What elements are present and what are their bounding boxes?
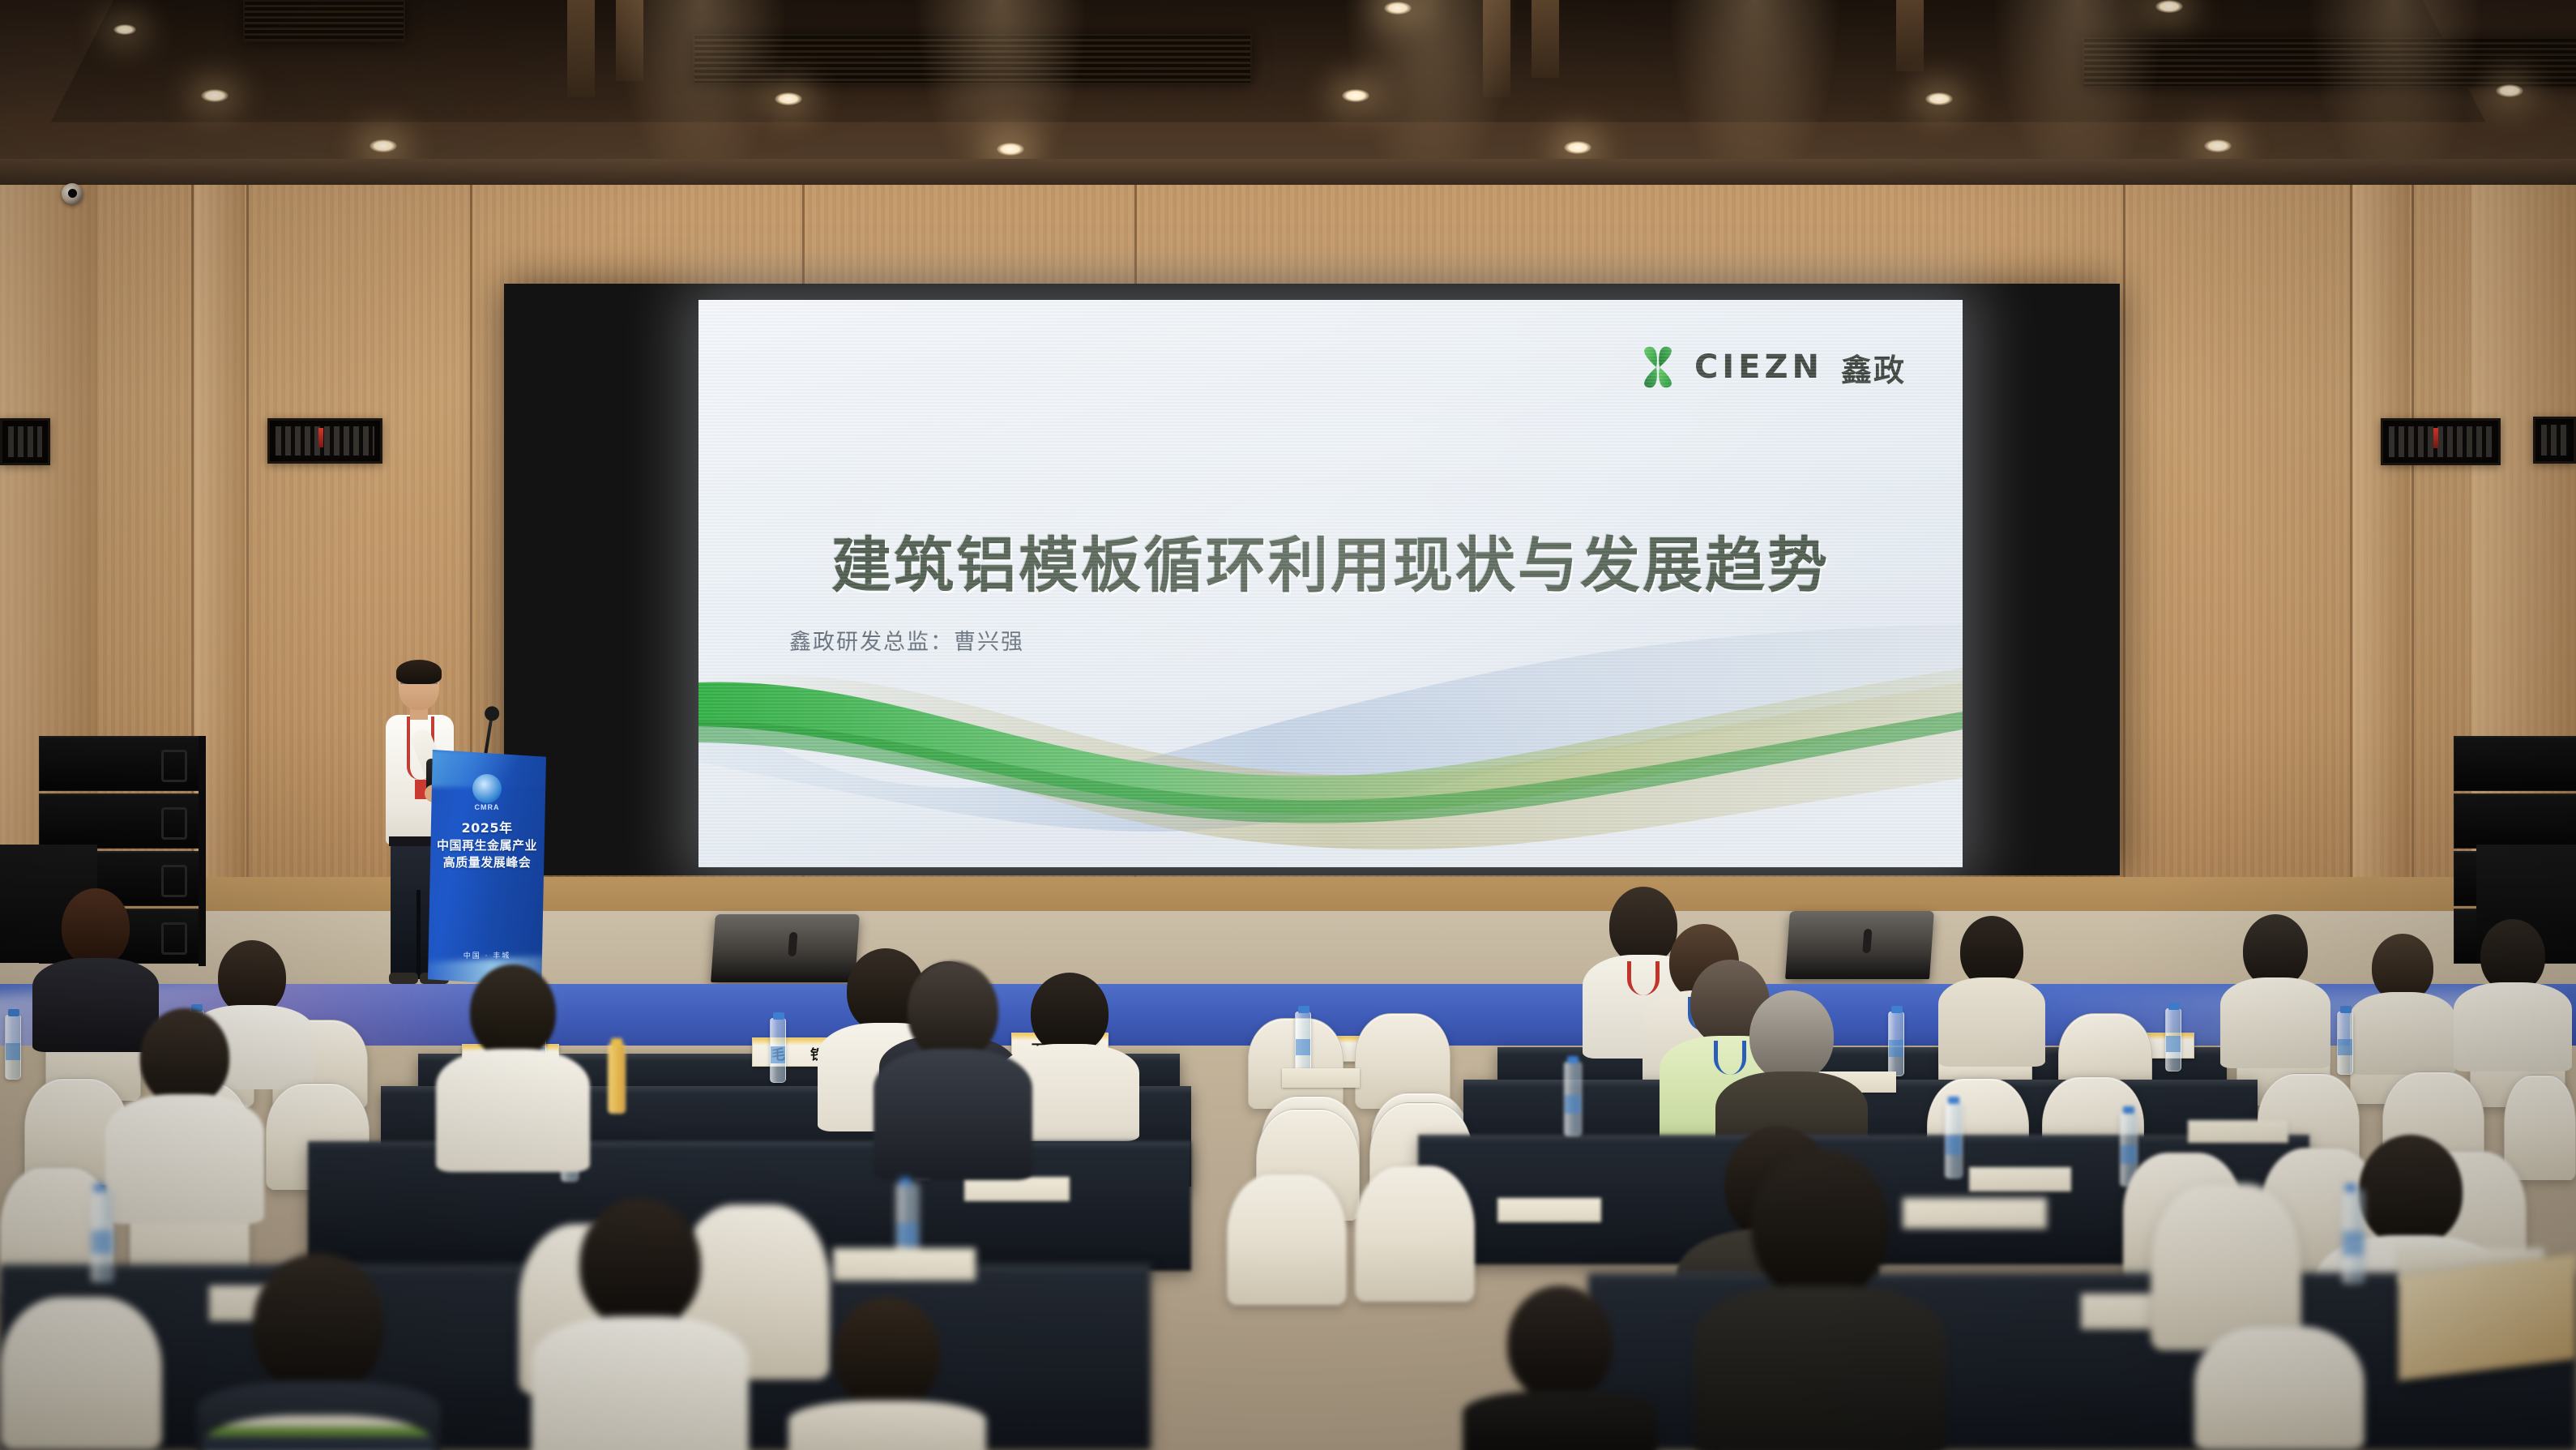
water-bottle — [1295, 1012, 1311, 1075]
ceiling-downlight — [2155, 0, 2183, 13]
ceiling-downlight — [775, 92, 802, 105]
handout-document — [2188, 1120, 2288, 1143]
attendee — [203, 1253, 434, 1450]
attendee — [2350, 934, 2455, 1067]
handout-document — [1969, 1167, 2071, 1191]
slide-title: 建筑铝模板循环利用现状与发展趋势 — [698, 517, 1963, 604]
ceiling-downlight — [113, 24, 136, 35]
chair — [1227, 1174, 1347, 1305]
attendee — [1938, 916, 2045, 1062]
ceiling-downlight — [370, 139, 397, 152]
ciezn-logo: CIEZN 鑫政 — [1634, 344, 1906, 391]
attendee — [1467, 1285, 1653, 1450]
ceiling-downlight — [1384, 2, 1412, 15]
attendee — [438, 965, 588, 1167]
chair — [0, 1297, 162, 1450]
ceiling — [0, 0, 2576, 188]
water-bottle — [2342, 1190, 2365, 1284]
ceiling-downlight — [201, 89, 229, 102]
logo-wordmark: CIEZN — [1694, 349, 1823, 386]
lectern-line-2: 中国再生金属产业 — [428, 837, 546, 854]
ceiling-vent-grille — [2083, 37, 2576, 88]
lectern-sign-text: 2025年 中国再生金属产业 高质量发展峰会 — [428, 819, 546, 870]
ceiling-downlight — [2496, 84, 2523, 97]
lectern-line-3: 高质量发展峰会 — [428, 854, 546, 871]
water-bottle — [1888, 1012, 1904, 1076]
handout-document — [1497, 1198, 1601, 1222]
cmra-circular-logo-icon — [472, 774, 502, 803]
water-bottle — [2165, 1008, 2181, 1071]
water-bottle — [1945, 1102, 1963, 1178]
wall-decor-panel — [2381, 418, 2501, 465]
attendee — [535, 1198, 745, 1450]
slide-subtitle: 鑫政研发总监：曹兴强 — [789, 624, 1024, 656]
lectern-line-1: 2025年 — [428, 819, 546, 837]
logo-wordmark-cn: 鑫政 — [1841, 345, 1906, 390]
ciezn-butterfly-logo-icon — [1634, 344, 1681, 391]
chair — [1355, 1166, 1475, 1302]
ceiling-downlight — [1342, 89, 1369, 102]
handout-document — [964, 1177, 1070, 1201]
attendee — [794, 1297, 980, 1450]
attendee — [107, 1008, 263, 1219]
attendee — [2220, 914, 2330, 1063]
presentation-screen[interactable]: CIEZN 鑫政 建筑铝模板循环利用现状与发展趋势 鑫政研发总监：曹兴强 — [698, 300, 1963, 867]
water-bottle — [91, 1190, 113, 1282]
attendee — [875, 961, 1031, 1174]
wall-decor-panel — [2533, 417, 2576, 464]
ceiling-vent-grille — [243, 0, 405, 42]
handout-document — [833, 1248, 976, 1281]
security-camera — [62, 183, 83, 204]
ceiling-downlight — [997, 143, 1024, 156]
chair — [2504, 1075, 2576, 1180]
wall-decor-panel — [0, 418, 50, 465]
lectern: CMRA 2025年 中国再生金属产业 高质量发展峰会 中国 · 丰城 — [428, 750, 546, 986]
handout-document — [1282, 1068, 1360, 1088]
ceiling-vent-grille — [693, 34, 1252, 84]
water-bottle — [770, 1018, 786, 1083]
wall-decor-panel — [267, 418, 382, 464]
attendee — [1698, 1149, 1942, 1450]
chair — [2194, 1326, 2365, 1450]
cmra-logo-text: CMRA — [475, 803, 500, 811]
water-bottle — [1564, 1062, 1582, 1136]
led-video-wall-frame: CIEZN 鑫政 建筑铝模板循环利用现状与发展趋势 鑫政研发总监：曹兴强 — [504, 284, 2120, 875]
conference-hall-scene: CIEZN 鑫政 建筑铝模板循环利用现状与发展趋势 鑫政研发总监：曹兴强 — [0, 0, 2576, 1450]
attendee — [2455, 919, 2570, 1065]
tea-bottle — [608, 1044, 626, 1114]
ceiling-downlight — [2204, 139, 2232, 152]
conference-folder — [2399, 1254, 2576, 1381]
water-bottle — [5, 1015, 21, 1080]
stage-monitor-wedge — [1785, 911, 1934, 979]
ceiling-downlight — [1564, 141, 1591, 154]
ceiling-downlight — [1925, 92, 1953, 105]
water-bottle — [2337, 1012, 2353, 1075]
